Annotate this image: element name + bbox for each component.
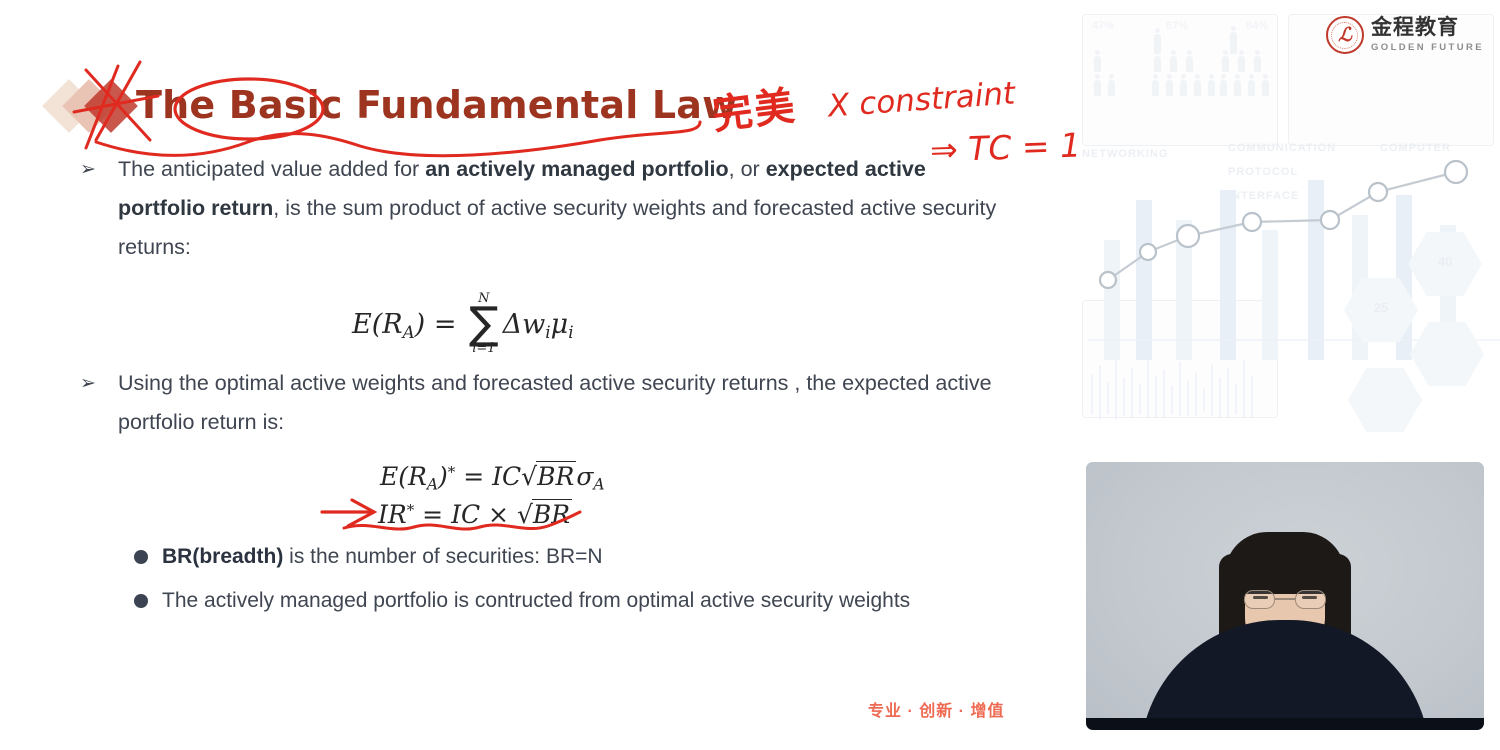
formula-information-ratio: IR* = IC × √BR <box>378 500 572 529</box>
formula1-lhs-sub: A <box>403 322 415 342</box>
decorative-infographic-background: 47% 67% 84% NETWORKING COMMUNICATION PRO… <box>1080 0 1500 460</box>
deco-percent-2: 67% <box>1166 20 1188 32</box>
annotation-wanmei: 完美 <box>709 73 799 141</box>
formula1-term2: μ <box>551 309 569 340</box>
slide-title-row: The Basic Fundamental Law <box>48 74 737 136</box>
formula2-lhs-close: ) <box>438 462 448 491</box>
deco-label-computer: COMPUTER <box>1380 142 1451 154</box>
dot-bullet-icon <box>134 550 148 564</box>
diamond-decoration-icon <box>48 76 144 134</box>
formula1-lhs-close: ) <box>415 309 426 340</box>
sigma-glyph: ∑ <box>469 306 499 342</box>
bullet-item-2: ➢ Using the optimal active weights and f… <box>80 364 1010 442</box>
formula2-radicand: BR <box>536 461 576 491</box>
summation-symbol: N ∑ i=1 <box>469 292 499 355</box>
formula-expected-active-return: E(RA) = N ∑ i=1 Δwiμi <box>352 294 574 357</box>
formula2-radical-icon: √ <box>521 462 537 491</box>
formula1-equals: = <box>434 309 457 340</box>
formula2-ic: IC <box>492 462 521 491</box>
annotation-constraint: X constraint <box>827 76 1016 125</box>
deco-line-chart <box>1080 160 1500 460</box>
formula3-lhs: IR <box>378 500 407 529</box>
deco-label-communication: COMMUNICATION <box>1228 142 1336 154</box>
formula3-radicand: BR <box>532 499 572 529</box>
slide-canvas: The Basic Fundamental Law ➢ The anticipa… <box>0 0 1080 750</box>
brand-name-cn: 金程教育 <box>1371 15 1459 39</box>
brand-logo: ℒ 金程教育 GOLDEN FUTURE <box>1326 16 1484 54</box>
sum-lower-limit: i=1 <box>472 342 495 356</box>
golden-future-seal-icon: ℒ <box>1326 16 1364 54</box>
bullet-2-text: Using the optimal active weights and for… <box>118 364 1010 442</box>
formula1-term1: Δw <box>503 309 546 340</box>
formula1-lhs: E(R <box>352 309 403 340</box>
formula2-sigma: σ <box>576 462 593 491</box>
arrow-bullet-icon: ➢ <box>80 364 102 442</box>
brand-name-en: GOLDEN FUTURE <box>1371 42 1484 53</box>
page-title: The Basic Fundamental Law <box>136 83 737 127</box>
annotation-tc-equals-one: ⇒ TC = 1 <box>929 125 1081 169</box>
presenter-video-tile[interactable] <box>1086 462 1484 730</box>
formula1-term2-sub: i <box>568 322 573 342</box>
sub-bullet-item-1: BR(breadth) is the number of securities:… <box>134 537 1014 576</box>
deco-percent-1: 47% <box>1092 20 1114 32</box>
formula2-lhs: E(R <box>380 462 427 491</box>
sub-bullet-item-2: The actively managed portfolio is contru… <box>134 581 1014 620</box>
sub-bullet-2-text: The actively managed portfolio is contru… <box>162 581 1014 620</box>
presenter-desk <box>1086 718 1484 730</box>
bullet-1-text: The anticipated value added for an activ… <box>118 150 1010 267</box>
arrow-head-ink <box>348 500 374 526</box>
presenter-glasses <box>1244 590 1326 610</box>
footer-tagline: 专业 · 创新 · 增值 <box>868 697 1004 721</box>
formula2-lhs-sub: A <box>427 475 438 493</box>
formula2-star: * <box>448 463 456 481</box>
formula3-equals: = <box>422 500 443 529</box>
sub-bullet-1-text: BR(breadth) is the number of securities:… <box>162 537 1014 576</box>
formula3-radical-icon: √ <box>517 500 533 529</box>
bullet-item-1: ➢ The anticipated value added for an act… <box>80 150 1010 267</box>
formula3-times: × <box>488 500 509 529</box>
deco-percent-3: 84% <box>1246 20 1268 32</box>
right-panel: 47% 67% 84% NETWORKING COMMUNICATION PRO… <box>1080 0 1500 750</box>
formula-optimal-expected-active-return: E(RA)* = IC√BRσA <box>380 462 605 493</box>
formula2-equals: = <box>463 462 484 491</box>
deco-label-networking: NETWORKING <box>1082 148 1168 160</box>
arrow-bullet-icon: ➢ <box>80 150 102 267</box>
formula3-star: * <box>407 501 415 519</box>
formula3-ic: IC <box>451 500 480 529</box>
dot-bullet-icon <box>134 594 148 608</box>
formula2-sigma-sub: A <box>593 475 604 493</box>
